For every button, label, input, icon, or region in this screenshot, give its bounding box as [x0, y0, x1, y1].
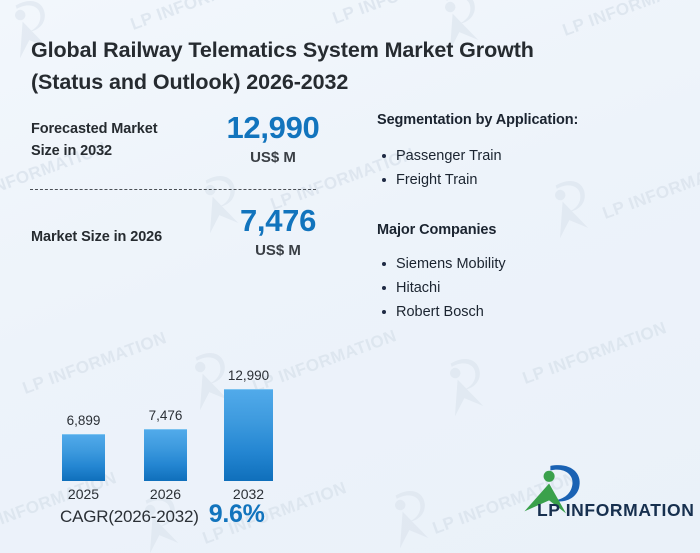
current-market-size-label: Market Size in 2026	[31, 226, 221, 248]
forecast-market-size-value: 12,990 US$ M	[214, 110, 332, 168]
forecast-label-line-1: Forecasted Market	[31, 121, 157, 137]
list-item: Hitachi	[379, 276, 506, 300]
watermark-text: LP INFORMATION	[600, 153, 700, 224]
market-size-bar-chart: 6,899 2025 7,476 2026 12,990 2032	[40, 330, 320, 480]
bar-group-2026: 7,476 2026	[144, 429, 187, 480]
segmentation-list: Passenger Train Freight Train	[379, 144, 502, 192]
bar-group-2032: 12,990 2032	[224, 389, 273, 480]
current-value-unit: US$ M	[222, 241, 334, 261]
lp-information-logo: LP INFORMATION	[519, 462, 679, 534]
cagr-row: CAGR(2026-2032) 9.6%	[60, 500, 265, 529]
section-divider	[30, 189, 316, 190]
list-item: Freight Train	[379, 168, 502, 192]
current-market-size-value: 7,476 US$ M	[222, 203, 334, 261]
bar-rect	[62, 434, 105, 481]
page-title: Global Railway Telematics System Market …	[31, 34, 651, 98]
bar-value-label: 7,476	[149, 408, 183, 424]
bar-group-2025: 6,899 2025	[62, 434, 105, 480]
page-title-line-1: Global Railway Telematics System Market …	[31, 34, 651, 66]
bar-rect	[144, 429, 187, 481]
major-companies-heading: Major Companies	[377, 222, 496, 238]
watermark-logo-mark	[530, 170, 604, 244]
watermark-text: LP INFORMATION	[520, 318, 669, 389]
current-value-number: 7,476	[222, 203, 334, 239]
cagr-value: 9.6%	[209, 500, 265, 529]
forecast-label-line-2: Size in 2032	[31, 143, 112, 159]
bar-rect	[224, 389, 273, 481]
list-item: Robert Bosch	[379, 300, 506, 324]
watermark-logo-mark	[425, 348, 499, 422]
bar-value-label: 12,990	[228, 368, 269, 384]
list-item: Siemens Mobility	[379, 252, 506, 276]
major-companies-list: Siemens Mobility Hitachi Robert Bosch	[379, 252, 506, 324]
watermark-text: LP INFORMATION	[330, 0, 479, 29]
cagr-label: CAGR(2026-2032)	[60, 507, 199, 527]
forecast-market-size-label: Forecasted Market Size in 2032	[31, 118, 211, 162]
current-label-line-1: Market Size in 2026	[31, 229, 162, 245]
segmentation-heading: Segmentation by Application:	[377, 112, 578, 128]
forecast-value-number: 12,990	[214, 110, 332, 146]
lp-logo-text: LP INFORMATION	[537, 500, 694, 521]
infographic-page: LP INFORMATION LP INFORMATION LP INFORMA…	[0, 0, 700, 553]
page-title-line-2: (Status and Outlook) 2026-2032	[31, 66, 651, 98]
forecast-value-unit: US$ M	[214, 148, 332, 168]
list-item: Passenger Train	[379, 144, 502, 168]
watermark-text: LP INFORMATION	[128, 0, 277, 35]
bar-value-label: 6,899	[67, 413, 101, 429]
watermark-logo-mark	[370, 480, 444, 553]
